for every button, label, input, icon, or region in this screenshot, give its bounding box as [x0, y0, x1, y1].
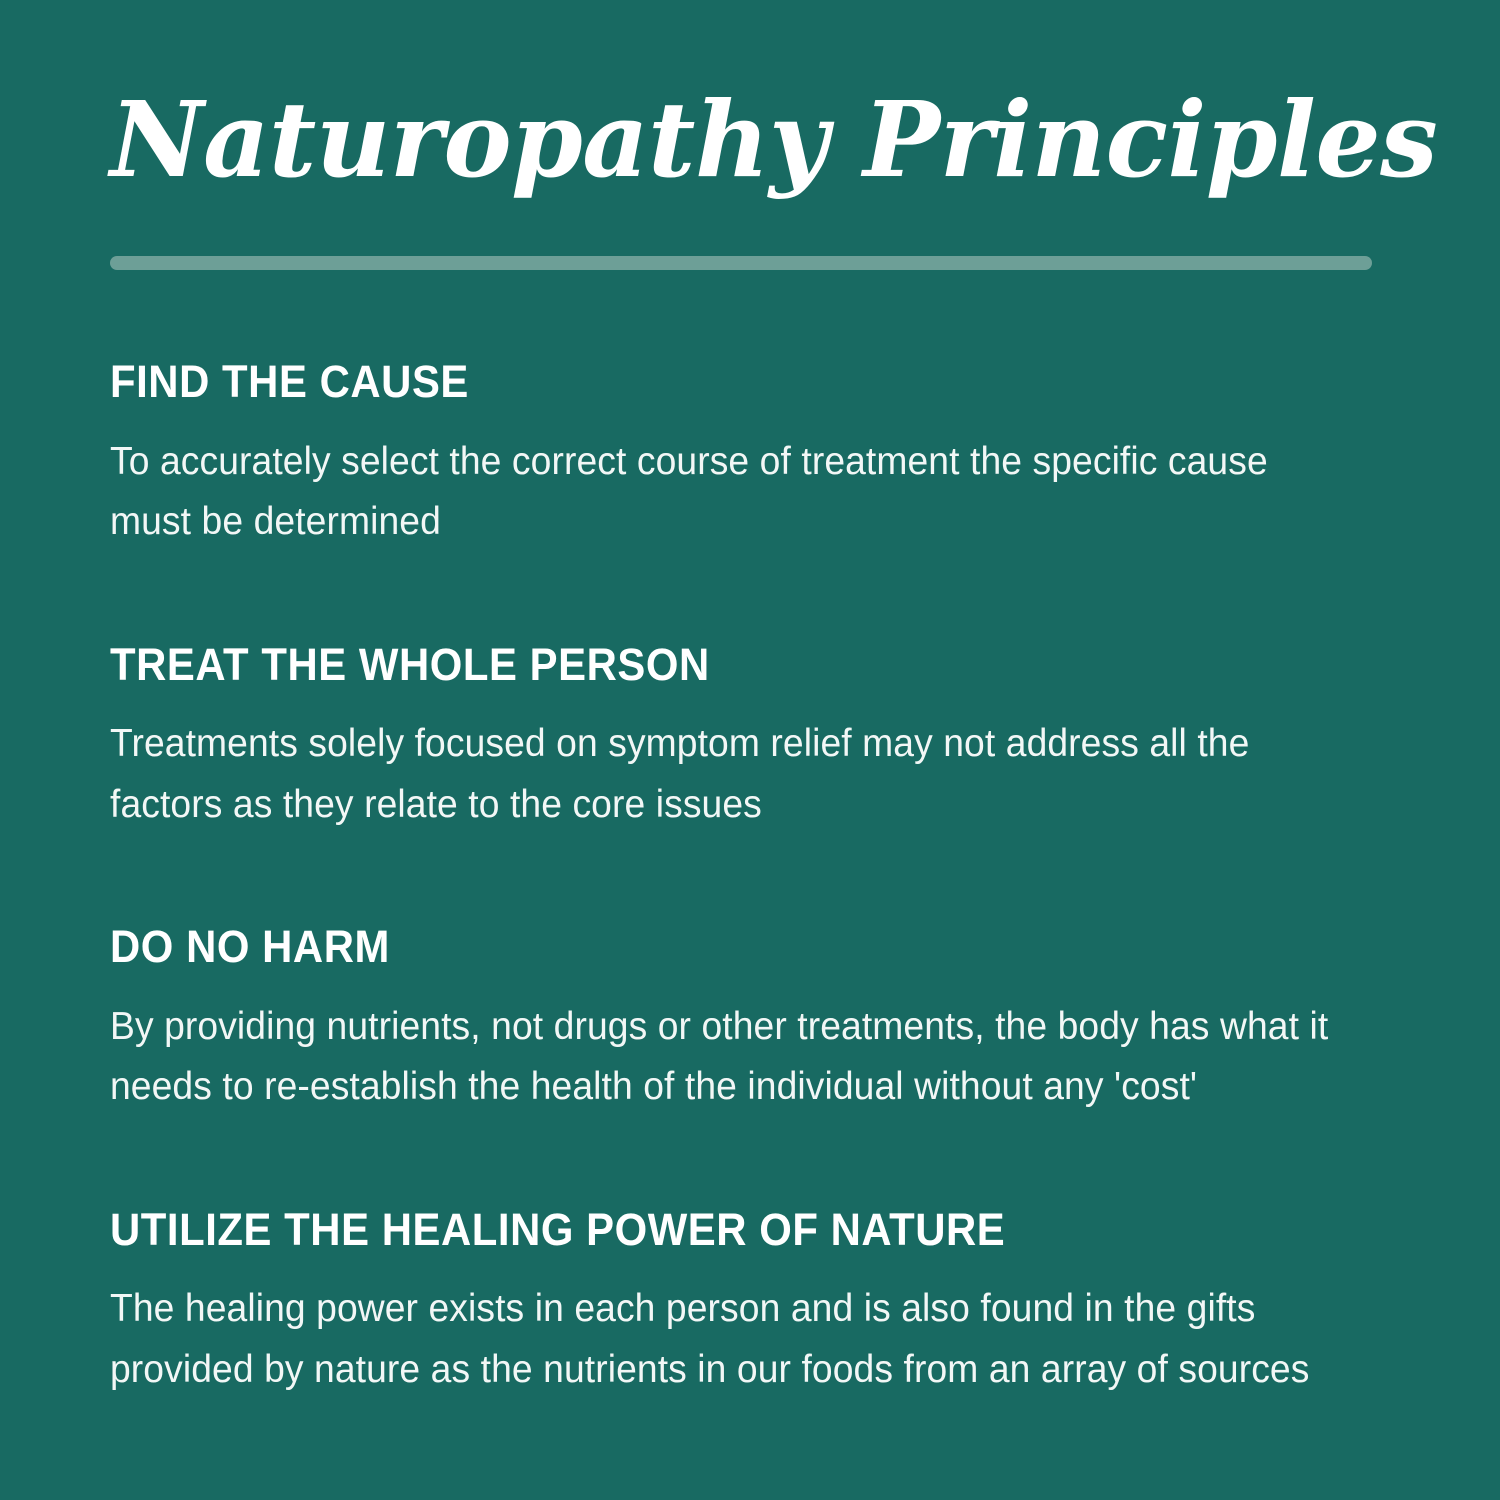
naturopathy-principles-poster: Naturopathy Principles FIND THE CAUSE To…: [0, 0, 1500, 1500]
principle-item-find-the-cause: FIND THE CAUSE To accurately select the …: [110, 358, 1390, 552]
page-title: Naturopathy Principles: [110, 86, 1371, 194]
principle-body: The healing power exists in each person …: [110, 1279, 1332, 1400]
title-divider: [110, 256, 1372, 270]
principle-heading: UTILIZE THE HEALING POWER OF NATURE: [110, 1206, 1300, 1255]
principle-heading: FIND THE CAUSE: [110, 358, 1300, 407]
principle-heading: DO NO HARM: [110, 923, 1300, 972]
title-block: Naturopathy Principles: [110, 0, 1390, 194]
principle-item-utilize-the-healing-power-of-nature: UTILIZE THE HEALING POWER OF NATURE The …: [110, 1206, 1390, 1400]
principle-body: By providing nutrients, not drugs or oth…: [110, 997, 1332, 1118]
principle-body: Treatments solely focused on symptom rel…: [110, 714, 1332, 835]
principle-heading: TREAT THE WHOLE PERSON: [110, 641, 1300, 690]
principle-body: To accurately select the correct course …: [110, 432, 1332, 553]
principles-list: FIND THE CAUSE To accurately select the …: [110, 358, 1390, 1400]
principle-item-do-no-harm: DO NO HARM By providing nutrients, not d…: [110, 923, 1390, 1117]
principle-item-treat-the-whole-person: TREAT THE WHOLE PERSON Treatments solely…: [110, 641, 1390, 835]
